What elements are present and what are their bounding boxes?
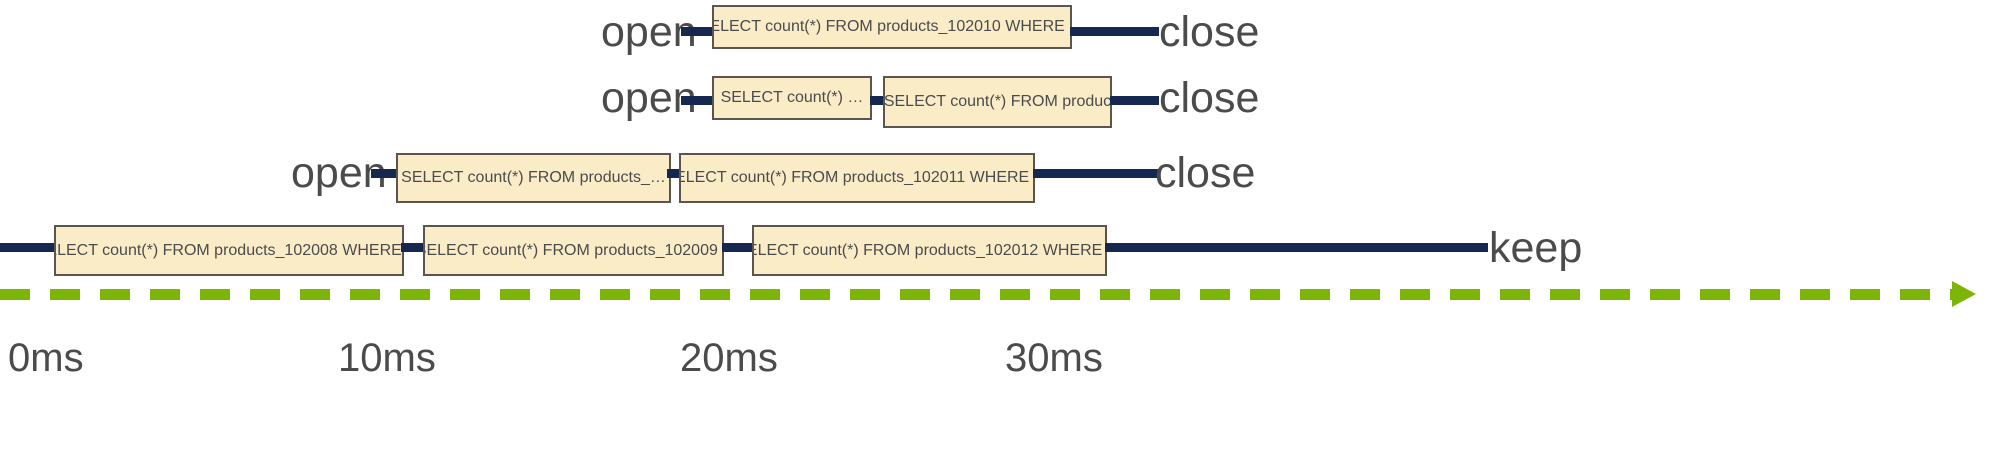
row-4-query-box-2[interactable]: SELECT count(*) FROM products_102009 .. xyxy=(423,225,724,276)
row-4-query-box-3[interactable]: SELECT count(*) FROM products_102012 WHE… xyxy=(752,225,1107,276)
row-4-query-text-2: SELECT count(*) FROM products_102009 .. xyxy=(423,242,724,260)
row-2-query-box-2[interactable]: SELECT count(*) FROM produc xyxy=(883,76,1112,128)
row-1-connector-right xyxy=(1070,27,1159,36)
row-4-query-text-3: SELECT count(*) FROM products_102012 WHE… xyxy=(752,242,1107,260)
row-2-connector-left xyxy=(681,96,714,105)
row-3-connector-right xyxy=(1033,169,1159,178)
row-4-connector-left xyxy=(0,243,58,252)
row-2-query-text-2: SELECT count(*) FROM produc xyxy=(883,93,1112,111)
time-tick-label-1: 10ms xyxy=(338,338,436,378)
row-3-query-text-2: SELECT count(*) FROM products_102011 WHE… xyxy=(679,169,1035,187)
time-tick-label-2: 20ms xyxy=(680,338,778,378)
time-tick-label-3: 30ms xyxy=(1005,338,1103,378)
row-4-query-text-1: SELECT count(*) FROM products_102008 WHE… xyxy=(54,242,404,260)
row-2-close-label: close xyxy=(1159,77,1259,120)
time-axis-arrowhead-icon xyxy=(1952,281,1976,307)
row-4-connector-right xyxy=(1105,243,1488,252)
row-1-close-label: close xyxy=(1159,11,1259,54)
time-tick-label-0: 0ms xyxy=(8,338,84,378)
row-3-query-text-1: SELECT count(*) FROM products_… xyxy=(396,169,671,187)
row-2-query-box-1[interactable]: SELECT count(*) … xyxy=(712,76,872,120)
row-3-close-label: close xyxy=(1155,152,1255,195)
row-2-query-text-1: SELECT count(*) … xyxy=(715,89,870,107)
row-2-connector-right xyxy=(1110,96,1159,105)
row-3-query-box-2[interactable]: SELECT count(*) FROM products_102011 WHE… xyxy=(679,153,1035,203)
row-3-query-box-1[interactable]: SELECT count(*) FROM products_… xyxy=(396,153,671,203)
row-1-query-text-1: SELECT count(*) FROM products_102010 WHE… xyxy=(712,18,1072,36)
timeline-diagram: open SELECT count(*) FROM products_10201… xyxy=(0,0,2000,476)
row-1-query-box-1[interactable]: SELECT count(*) FROM products_102010 WHE… xyxy=(712,5,1072,49)
row-4-keep-label: keep xyxy=(1489,227,1582,270)
time-axis-dashed-line xyxy=(0,289,1958,300)
row-1-connector-left xyxy=(681,27,714,36)
row-4-query-box-1[interactable]: SELECT count(*) FROM products_102008 WHE… xyxy=(54,225,404,276)
